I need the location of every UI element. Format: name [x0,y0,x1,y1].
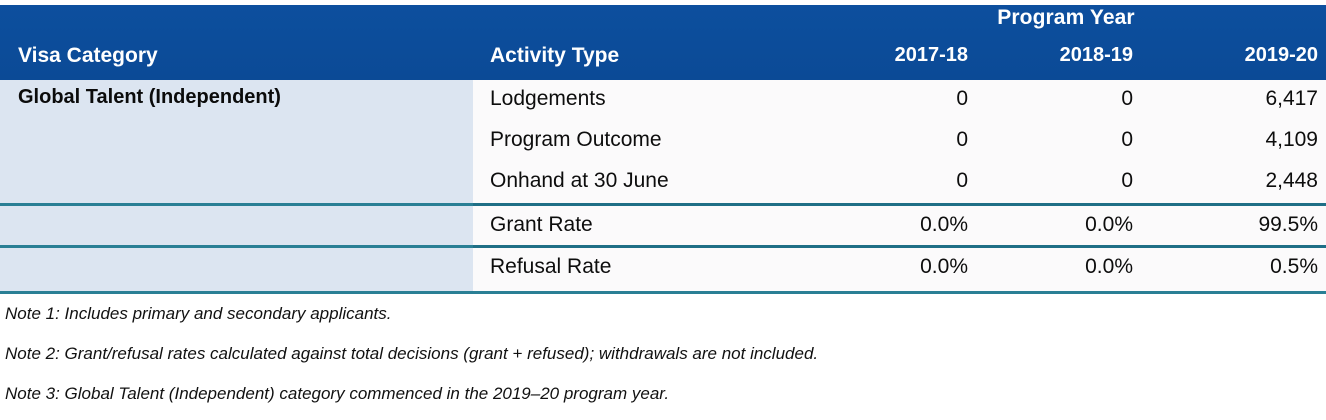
visa-category-cell: Global Talent (Independent) [0,80,473,291]
category-divider-upper [0,203,473,206]
activity-label: Onhand at 30 June [490,169,669,193]
note-2: Note 2: Grant/refusal rates calculated a… [5,344,818,364]
cell-2019-20: 6,417 [1138,87,1318,111]
cell-2019-20: 2,448 [1138,169,1318,193]
visa-category-value: Global Talent (Independent) [18,86,281,109]
cell-2019-20: 99.5% [1138,213,1318,237]
column-header-year-2019-20: 2019-20 [1138,44,1318,67]
activity-label: Program Outcome [490,128,662,152]
cell-2017-18: 0 [788,128,968,152]
note-1: Note 1: Includes primary and secondary a… [5,304,391,324]
cell-2017-18: 0.0% [788,255,968,279]
column-header-visa-category: Visa Category [18,44,158,68]
activity-label: Refusal Rate [490,255,611,279]
cell-2018-19: 0.0% [953,255,1133,279]
cell-2017-18: 0 [788,169,968,193]
table-row: Program Outcome 0 0 4,109 [473,121,1326,162]
table-row: Lodgements 0 0 6,417 [473,80,1326,121]
cell-2018-19: 0.0% [953,213,1133,237]
activity-label: Grant Rate [490,213,593,237]
table-bottom-border [0,291,1326,294]
column-header-year-2017-18: 2017-18 [788,44,968,67]
category-divider-lower [0,245,473,248]
activity-label: Lodgements [490,87,606,111]
cell-2019-20: 0.5% [1138,255,1318,279]
cell-2017-18: 0.0% [788,213,968,237]
cell-2017-18: 0 [788,87,968,111]
cell-2018-19: 0 [953,169,1133,193]
cell-2018-19: 0 [953,128,1133,152]
cell-2019-20: 4,109 [1138,128,1318,152]
table-row: Onhand at 30 June 0 0 2,448 [473,162,1326,203]
note-3: Note 3: Global Talent (Independent) cate… [5,384,669,404]
column-header-year-2018-19: 2018-19 [953,44,1133,67]
statistics-table: Program Year Visa Category Activity Type… [0,0,1326,296]
table-row: Grant Rate 0.0% 0.0% 99.5% [473,206,1326,247]
cell-2018-19: 0 [953,87,1133,111]
column-header-activity-type: Activity Type [490,44,619,68]
table-row: Refusal Rate 0.0% 0.0% 0.5% [473,248,1326,289]
activity-data-panel: Lodgements 0 0 6,417 Program Outcome 0 0… [473,80,1326,291]
column-group-header-program-year: Program Year [850,6,1282,30]
